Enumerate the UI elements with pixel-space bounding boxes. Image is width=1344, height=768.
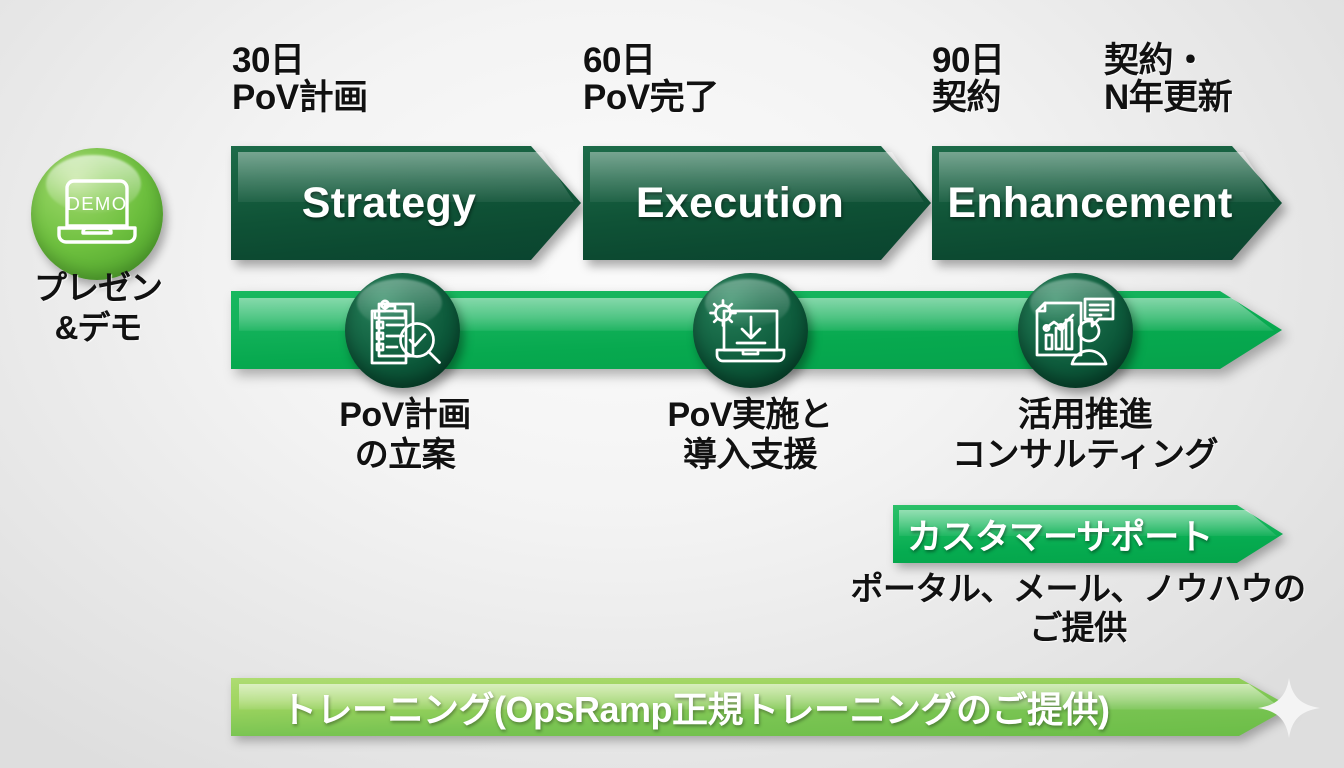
phase-icon-caption-3: 活用推進 コンサルティング	[915, 395, 1255, 475]
phase-icon-badge-2[interactable]	[693, 273, 808, 388]
phase-caption-60day: 60日 PoV完了	[583, 42, 719, 116]
laptop-demo-icon: DEMO	[31, 148, 163, 280]
slide-canvas: 30日 PoV計画 60日 PoV完了 90日 契約 契約・ N年更新 Stra…	[0, 0, 1344, 768]
stage-arrow-enhancement-label: Enhancement	[947, 179, 1266, 228]
training-label: トレーニング(OpsRamp正規トレーニングのご提供)	[231, 681, 1110, 733]
report-chart-person-chat-icon	[1018, 273, 1133, 388]
phase-icon-caption-2: PoV実施と 導入支援	[600, 395, 900, 475]
phase-caption-90day: 90日 契約	[932, 42, 1004, 116]
phase-icon-badge-3[interactable]	[1018, 273, 1133, 388]
phase-caption-30day: 30日 PoV計画	[232, 42, 368, 116]
training-arrow[interactable]: トレーニング(OpsRamp正規トレーニングのご提供)	[231, 678, 1291, 736]
svg-text:DEMO: DEMO	[66, 193, 127, 214]
phase-icon-badge-1[interactable]	[345, 273, 460, 388]
stage-arrow-execution[interactable]: Execution	[583, 146, 931, 260]
demo-label: プレゼン &デモ	[0, 268, 196, 347]
stage-arrow-strategy-label: Strategy	[302, 179, 510, 228]
stage-arrow-strategy[interactable]: Strategy	[231, 146, 581, 260]
laptop-download-gear-icon	[693, 273, 808, 388]
phase-caption-renewal: 契約・ N年更新	[1104, 42, 1232, 116]
customer-support-arrow[interactable]: カスタマーサポート	[893, 505, 1283, 563]
phase-icon-caption-1: PoV計画 の立案	[255, 395, 555, 475]
customer-support-label: カスタマーサポート	[893, 509, 1212, 560]
clipboard-checklist-magnifier-icon	[345, 273, 460, 388]
stage-arrow-execution-label: Execution	[636, 179, 878, 228]
demo-badge[interactable]: DEMO	[31, 148, 163, 280]
stage-arrow-enhancement[interactable]: Enhancement	[932, 146, 1282, 260]
customer-support-detail: ポータル、メール、ノウハウの ご提供	[812, 570, 1344, 648]
